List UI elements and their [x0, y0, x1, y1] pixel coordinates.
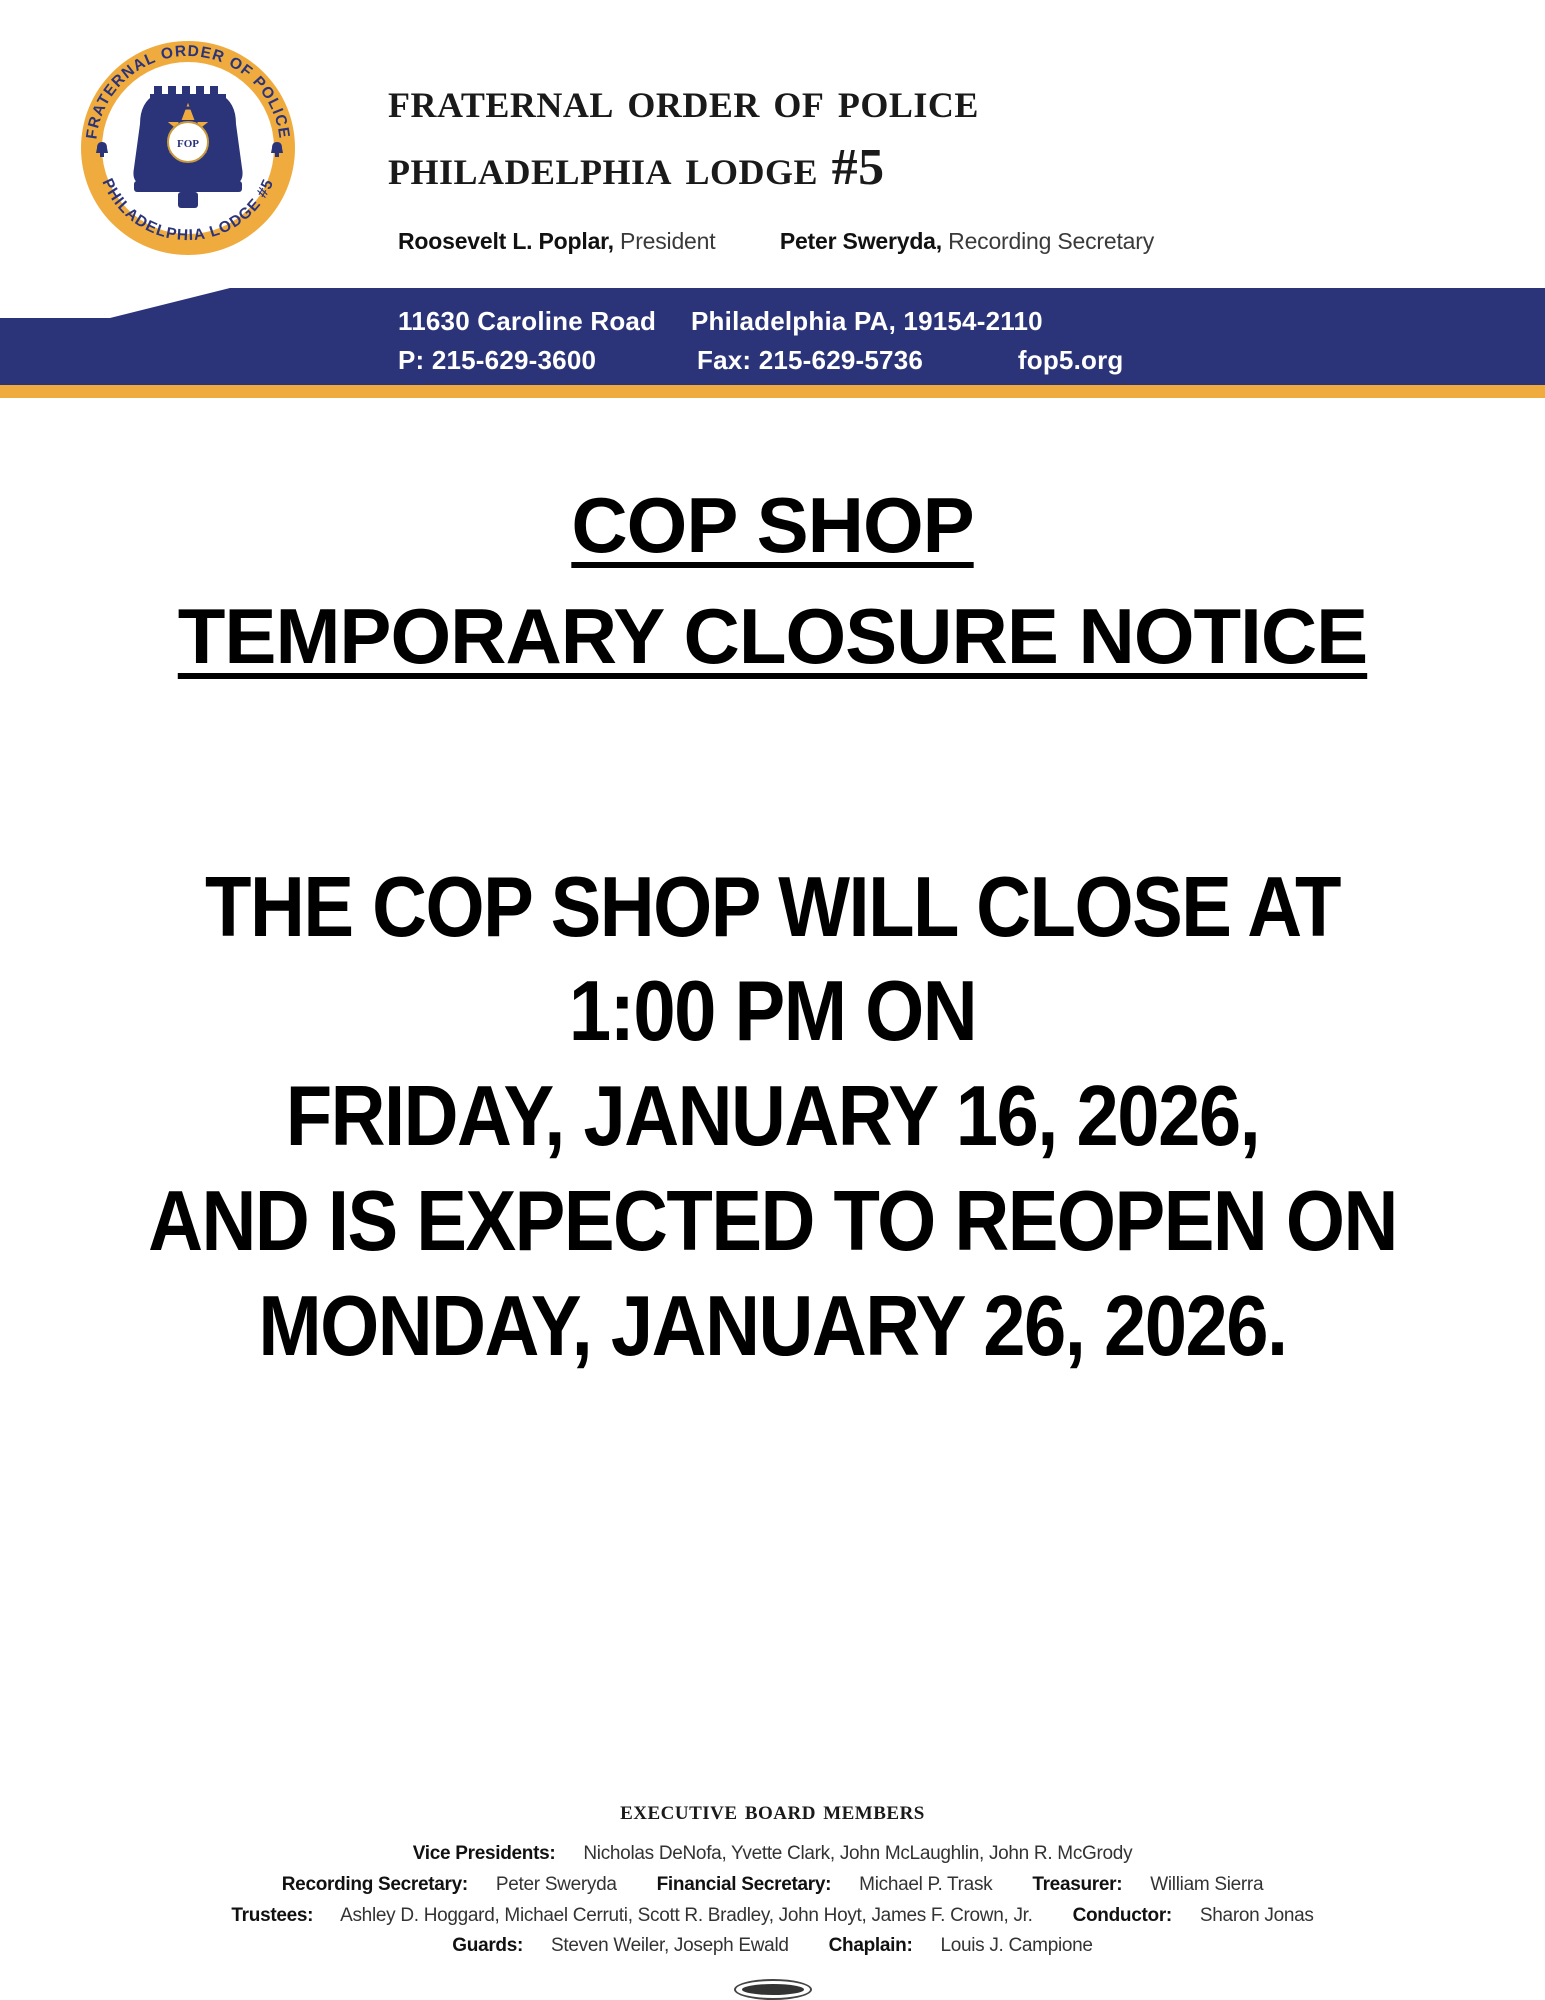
notice-body-line-4: AND IS EXPECTED TO REOPEN ON	[0, 1164, 1545, 1281]
contact-street: 11630 Caroline Road	[398, 306, 656, 336]
notice-title-1-text: COP SHOP	[571, 481, 973, 569]
letterhead: FOP FRATERNAL ORDER OF POLICE PHILADELPH…	[0, 0, 1545, 392]
conductor-label: Conductor:	[1073, 1905, 1172, 1926]
chaplain-value: Louis J. Campione	[940, 1935, 1092, 1956]
trustees-label: Trustees:	[231, 1905, 313, 1926]
notice-message-block: THE COP SHOP WILL CLOSE AT 1:00 PM ON FR…	[0, 850, 1545, 1374]
officers-line: Roosevelt L. Poplar, President Peter Swe…	[398, 228, 1154, 255]
executive-board-footer: Executive Board Members Vice Presidents:…	[0, 1795, 1545, 2000]
treasurer-value: William Sierra	[1150, 1874, 1263, 1895]
fop-seal-logo: FOP FRATERNAL ORDER OF POLICE PHILADELPH…	[78, 38, 298, 258]
financial-secretary-value: Michael P. Trask	[859, 1874, 992, 1895]
notice-title-line-1: COP SHOP	[0, 470, 1545, 581]
notice-title-line-2: TEMPORARY CLOSURE NOTICE	[0, 581, 1545, 692]
guards-label: Guards:	[452, 1935, 523, 1956]
gold-accent-stripe	[0, 385, 1545, 398]
president-name: Roosevelt L. Poplar,	[398, 228, 614, 254]
financial-secretary-label: Financial Secretary:	[657, 1874, 832, 1895]
footer-heading: Executive Board Members	[0, 1795, 1545, 1826]
footer-row-vice-presidents: Vice Presidents: Nicholas DeNofa, Yvette…	[0, 1839, 1545, 1870]
treasurer-label: Treasurer:	[1032, 1874, 1122, 1895]
president-title: President	[620, 228, 715, 254]
contact-phone-row: P: 215-629-3600 Fax: 215-629-5736 fop5.o…	[398, 345, 1123, 376]
recording-secretary-title: Recording Secretary	[948, 228, 1154, 254]
org-title-line-1: Fraternal Order of Police	[388, 68, 1388, 135]
chaplain-label: Chaplain:	[829, 1935, 913, 1956]
contact-address-row: 11630 Caroline Road Philadelphia PA, 191…	[398, 306, 1043, 337]
contact-fax: Fax: 215-629-5736	[697, 345, 923, 375]
footer-row-secretaries: Recording Secretary: Peter Sweryda Finan…	[0, 1870, 1545, 1901]
vice-presidents-label: Vice Presidents:	[413, 1843, 556, 1864]
notice-body: COP SHOP TEMPORARY CLOSURE NOTICE THE CO…	[0, 392, 1545, 1374]
svg-text:FOP: FOP	[177, 138, 199, 150]
notice-body-line-3: FRIDAY, JANUARY 16, 2026,	[0, 1059, 1545, 1176]
contact-website-link[interactable]: fop5.org	[1018, 345, 1124, 375]
trustees-names: Ashley D. Hoggard, Michael Cerruti, Scot…	[340, 1905, 1033, 1926]
notice-title-2-text: TEMPORARY CLOSURE NOTICE	[178, 592, 1367, 680]
recording-secretary-value: Peter Sweryda	[496, 1874, 617, 1895]
organization-title: Fraternal Order of Police Philadelphia L…	[388, 68, 1388, 201]
notice-body-line-5: MONDAY, JANUARY 26, 2026.	[0, 1269, 1545, 1386]
contact-phone[interactable]: P: 215-629-3600	[398, 345, 596, 375]
union-label-bug-icon	[734, 1979, 812, 2000]
footer-row-trustees: Trustees: Ashley D. Hoggard, Michael Cer…	[0, 1901, 1545, 1932]
contact-info: 11630 Caroline Road Philadelphia PA, 191…	[0, 288, 1545, 385]
vice-presidents-names: Nicholas DeNofa, Yvette Clark, John McLa…	[583, 1843, 1132, 1864]
union-bug-core	[742, 1984, 804, 1995]
guards-names: Steven Weiler, Joseph Ewald	[551, 1935, 789, 1956]
org-title-line-2: Philadelphia Lodge #5	[388, 135, 1388, 202]
notice-title-block: COP SHOP TEMPORARY CLOSURE NOTICE	[0, 470, 1545, 692]
footer-row-guards-chaplain: Guards: Steven Weiler, Joseph Ewald Chap…	[0, 1931, 1545, 1962]
recording-secretary-name: Peter Sweryda,	[780, 228, 942, 254]
notice-body-line-1: THE COP SHOP WILL CLOSE AT	[0, 850, 1545, 967]
notice-body-line-2: 1:00 PM ON	[0, 954, 1545, 1071]
conductor-value: Sharon Jonas	[1200, 1905, 1314, 1926]
recording-secretary-label: Recording Secretary:	[282, 1874, 468, 1895]
contact-city-state-zip: Philadelphia PA, 19154-2110	[691, 306, 1043, 336]
